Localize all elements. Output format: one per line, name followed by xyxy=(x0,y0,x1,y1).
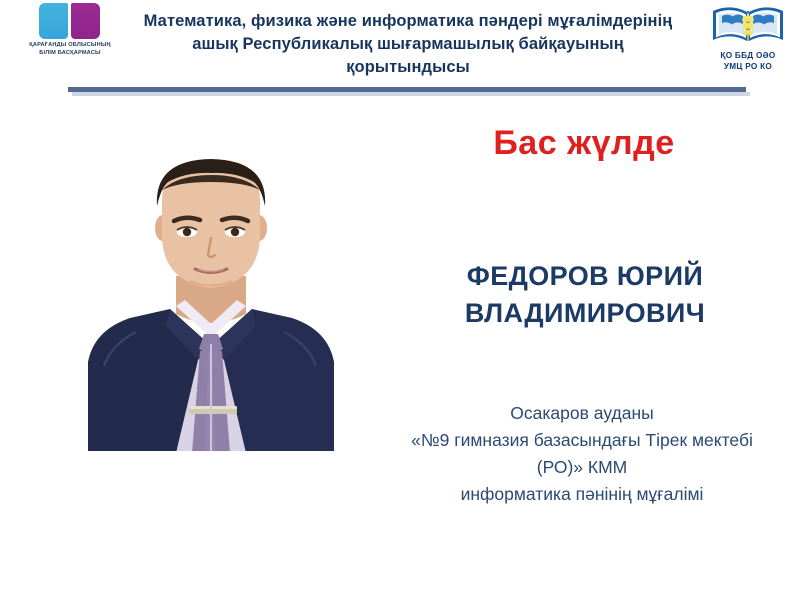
portrait-illustration xyxy=(58,148,364,453)
book-right-page-shape xyxy=(71,3,100,39)
winner-name-line-1: ФЕДОРОВ ЮРИЙ xyxy=(400,258,770,295)
prize-title: Бас жүлде xyxy=(404,124,764,163)
header-divider-shadow xyxy=(72,92,750,96)
header-title: Математика, физика және информатика пәнд… xyxy=(128,10,688,79)
karaganda-education-department-logo: ҚАРАҒАНДЫ ОБЛЫСЫНЫҢ БІЛІМ БАСҚАРМАСЫ xyxy=(14,1,126,71)
logo-right-caption-line-1: ҚО ББД ОӘО xyxy=(700,50,796,61)
slide-canvas: ҚАРАҒАНДЫ ОБЛЫСЫНЫҢ БІЛІМ БАСҚАРМАСЫ Мат… xyxy=(0,0,804,609)
winner-desc-line-3: (РО)» КММ xyxy=(376,454,788,481)
header-title-line-2: ашық Республикалық шығармашылық байқауын… xyxy=(128,33,688,56)
winner-description: Осакаров ауданы «№9 гимназия базасындағы… xyxy=(376,400,788,508)
winner-name-line-2: ВЛАДИМИРОВИЧ xyxy=(400,295,770,332)
winner-desc-line-1: Осакаров ауданы xyxy=(376,400,788,427)
open-book-emblem-icon xyxy=(710,1,786,45)
book-left-page-shape xyxy=(39,3,68,39)
header-title-line-1: Математика, физика және информатика пәнд… xyxy=(128,10,688,33)
logo-left-caption-line-2: БІЛІМ БАСҚАРМАСЫ xyxy=(14,49,126,57)
slide-header: ҚАРАҒАНДЫ ОБЛЫСЫНЫҢ БІЛІМ БАСҚАРМАСЫ Мат… xyxy=(0,0,804,82)
winner-name: ФЕДОРОВ ЮРИЙ ВЛАДИМИРОВИЧ xyxy=(400,258,770,332)
logo-right-caption-line-2: УМЦ РО КО xyxy=(700,61,796,72)
header-title-line-3: қорытындысы xyxy=(128,56,688,79)
logo-left-caption-line-1: ҚАРАҒАНДЫ ОБЛЫСЫНЫҢ xyxy=(14,41,126,49)
winner-portrait-photo xyxy=(58,148,364,453)
winner-desc-line-2: «№9 гимназия базасындағы Тірек мектебі xyxy=(376,427,788,454)
winner-desc-line-4: информатика пәнінің мұғалімі xyxy=(376,481,788,508)
umc-ro-ko-logo: ҚО ББД ОӘО УМЦ РО КО xyxy=(700,1,796,73)
open-book-icon xyxy=(38,3,102,39)
